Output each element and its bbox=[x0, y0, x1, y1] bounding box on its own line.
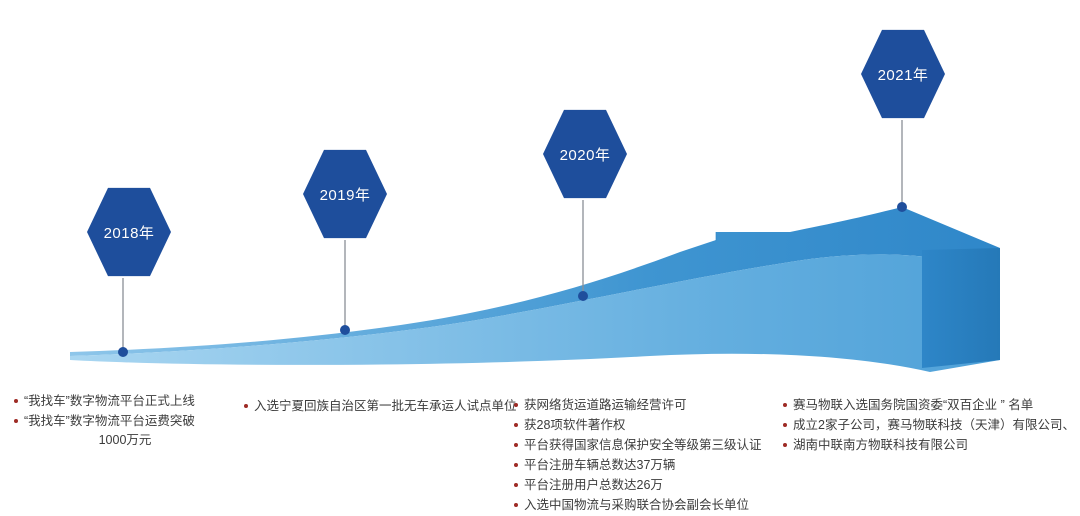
milestone-list-2018: “我找车”数字物流平台正式上线 “我找车”数字物流平台运费突破 1000万元 bbox=[14, 392, 226, 451]
ramp-top-surface bbox=[70, 207, 1000, 356]
dot-2018 bbox=[118, 347, 128, 357]
marker-dots bbox=[118, 202, 907, 357]
bullet-icon bbox=[783, 423, 787, 427]
list-item-line2: 1000万元 bbox=[24, 431, 226, 450]
year-label: 2020年 bbox=[560, 144, 611, 165]
milestone-list-2020: 获网络货运道路运输经营许可 获28项软件著作权 平台获得国家信息保护安全等级第三… bbox=[514, 396, 774, 516]
milestone-list-2021: 赛马物联入选国务院国资委“双百企业 ” 名单 成立2家子公司，赛马物联科技（天津… bbox=[783, 396, 1073, 456]
list-item: 获网络货运道路运输经营许可 bbox=[514, 396, 774, 415]
marker-stems bbox=[123, 120, 902, 352]
bullet-icon bbox=[14, 419, 18, 423]
bullet-icon bbox=[514, 503, 518, 507]
year-label: 2018年 bbox=[104, 222, 155, 243]
list-item-text: 获28项软件著作权 bbox=[524, 416, 774, 435]
bullet-icon bbox=[783, 443, 787, 447]
list-item: 平台注册车辆总数达37万辆 bbox=[514, 456, 774, 475]
timeline-infographic: 2018年 2019年 2020年 2021年 “我找车”数字物流平台正式上线 … bbox=[0, 0, 1080, 512]
list-item-text: 平台注册用户总数达26万 bbox=[524, 476, 774, 495]
ramp-front-face bbox=[70, 248, 1000, 372]
year-label: 2019年 bbox=[320, 184, 371, 205]
list-item: 成立2家子公司，赛马物联科技（天津）有限公司、 bbox=[783, 416, 1073, 435]
list-item-text: 入选宁夏回族自治区第一批无车承运人试点单位 bbox=[254, 397, 517, 416]
bullet-icon bbox=[514, 443, 518, 447]
list-item-text: 赛马物联入选国务院国资委“双百企业 ” 名单 bbox=[793, 396, 1073, 415]
list-item-text: “我找车”数字物流平台正式上线 bbox=[24, 392, 226, 411]
list-item: 赛马物联入选国务院国资委“双百企业 ” 名单 bbox=[783, 396, 1073, 415]
dot-2019 bbox=[340, 325, 350, 335]
list-item: “我找车”数字物流平台正式上线 bbox=[14, 392, 226, 411]
list-item-text: 平台注册车辆总数达37万辆 bbox=[524, 456, 774, 475]
dot-2021 bbox=[897, 202, 907, 212]
year-badge-2019[interactable]: 2019年 bbox=[303, 148, 387, 240]
list-item: 平台获得国家信息保护安全等级第三级认证 bbox=[514, 436, 774, 455]
bullet-icon bbox=[514, 483, 518, 487]
bullet-icon bbox=[244, 404, 248, 408]
bullet-icon bbox=[514, 423, 518, 427]
bullet-icon bbox=[14, 399, 18, 403]
list-item-text: 湖南中联南方物联科技有限公司 bbox=[793, 436, 1073, 455]
list-item: 平台注册用户总数达26万 bbox=[514, 476, 774, 495]
list-item-text: 成立2家子公司，赛马物联科技（天津）有限公司、 bbox=[793, 416, 1075, 435]
list-item-text: 平台获得国家信息保护安全等级第三级认证 bbox=[524, 436, 774, 455]
bullet-icon bbox=[514, 403, 518, 407]
ramp-end-cap bbox=[922, 248, 1000, 368]
list-item-text: 获网络货运道路运输经营许可 bbox=[524, 396, 774, 415]
milestone-list-2019: 入选宁夏回族自治区第一批无车承运人试点单位 bbox=[244, 397, 494, 417]
list-item: “我找车”数字物流平台运费突破 1000万元 bbox=[14, 412, 226, 450]
list-item: 入选宁夏回族自治区第一批无车承运人试点单位 bbox=[244, 397, 494, 416]
list-item: 入选中国物流与采购联合协会副会长单位 bbox=[514, 496, 774, 515]
list-item: 获28项软件著作权 bbox=[514, 416, 774, 435]
bullet-icon bbox=[514, 463, 518, 467]
year-badge-2018[interactable]: 2018年 bbox=[87, 186, 171, 278]
list-item-line1: “我找车”数字物流平台运费突破 bbox=[24, 414, 195, 428]
dot-2020 bbox=[578, 291, 588, 301]
bullet-icon bbox=[783, 403, 787, 407]
list-item-text: “我找车”数字物流平台运费突破 1000万元 bbox=[24, 412, 226, 450]
year-label: 2021年 bbox=[878, 64, 929, 85]
list-item-text: 入选中国物流与采购联合协会副会长单位 bbox=[524, 496, 774, 515]
year-badge-2020[interactable]: 2020年 bbox=[543, 108, 627, 200]
list-item: 湖南中联南方物联科技有限公司 bbox=[783, 436, 1073, 455]
year-badge-2021[interactable]: 2021年 bbox=[861, 28, 945, 120]
